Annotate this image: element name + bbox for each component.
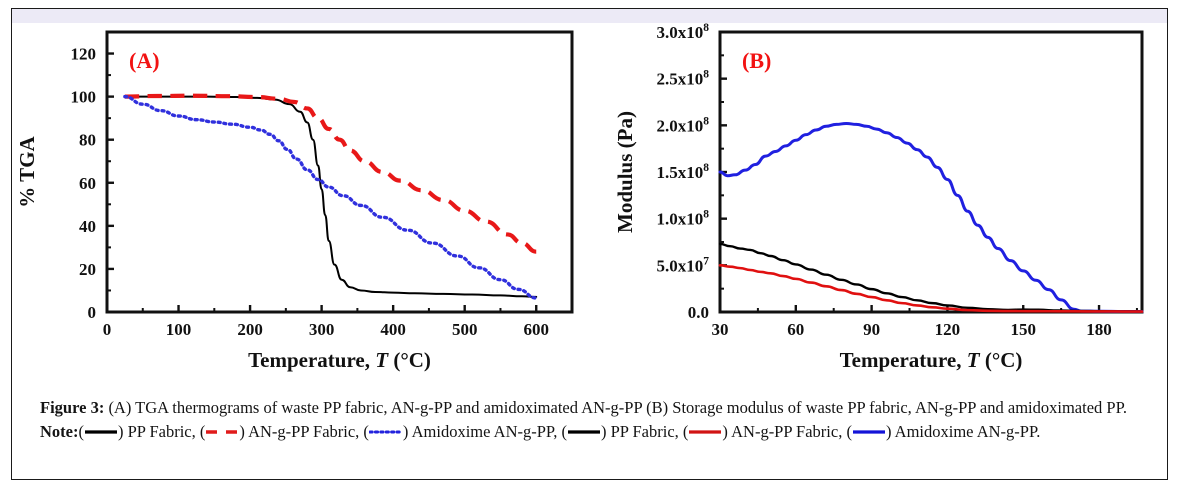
legend-entry-label: ) AN-g-PP Fabric, ( — [722, 422, 852, 441]
dashed-red-line — [205, 426, 239, 436]
caption-legend-list: ) PP Fabric, () AN-g-PP Fabric, () Amido… — [84, 422, 1040, 441]
y-tick-label: 0.0 — [688, 303, 709, 322]
y-tick-label: 2.0x108 — [657, 115, 710, 135]
caption-text: (A) TGA thermograms of waste PP fabric, … — [104, 398, 1127, 417]
x-tick-label: 90 — [863, 320, 880, 339]
x-tick-label: 100 — [166, 320, 192, 339]
chart-panel-b: 3060901201501800.05.0x1071.0x1081.5x1082… — [602, 12, 1167, 382]
y-tick-label: 3.0x108 — [657, 22, 710, 42]
panel-label: (B) — [742, 48, 771, 73]
x-axis-title: Temperature, T (°C) — [840, 348, 1023, 372]
solid-black-line — [84, 426, 118, 436]
legend-entry-label: ) PP Fabric, ( — [118, 422, 205, 441]
plots-area: 0100200300400500600020406080100120(A)Tem… — [12, 12, 1167, 382]
x-tick-label: 180 — [1086, 320, 1112, 339]
y-axis-title: % TGA — [15, 135, 39, 207]
x-tick-label: 600 — [523, 320, 549, 339]
x-tick-label: 0 — [103, 320, 112, 339]
x-tick-label: 200 — [237, 320, 263, 339]
x-axis-title: Temperature, T (°C) — [248, 348, 431, 372]
dotted-blue-line — [369, 426, 403, 436]
legend-entry-label: ) PP Fabric, ( — [601, 422, 688, 441]
x-tick-label: 60 — [787, 320, 804, 339]
legend-entry-label: ) Amidoxime AN-g-PP, ( — [403, 422, 567, 441]
x-tick-label: 500 — [452, 320, 478, 339]
x-tick-label: 150 — [1010, 320, 1036, 339]
plot-frame — [720, 32, 1142, 312]
x-tick-label: 400 — [380, 320, 406, 339]
solid-black-line-2 — [567, 426, 601, 436]
y-tick-label: 80 — [79, 131, 96, 150]
solid-blue-line — [852, 426, 886, 436]
solid-red-line — [688, 426, 722, 436]
panel-label: (A) — [129, 48, 160, 73]
y-tick-label: 100 — [71, 88, 97, 107]
legend-entry-label: ) Amidoxime AN-g-PP. — [886, 422, 1040, 441]
x-tick-label: 300 — [309, 320, 335, 339]
y-tick-label: 20 — [79, 260, 96, 279]
y-axis-title: Modulus (Pa) — [613, 111, 637, 233]
figure-caption: Figure 3: (A) TGA thermograms of waste P… — [40, 396, 1140, 444]
y-tick-label: 0 — [88, 303, 97, 322]
y-tick-label: 40 — [79, 217, 96, 236]
figure-container: 0100200300400500600020406080100120(A)Tem… — [0, 0, 1179, 488]
x-tick-label: 120 — [935, 320, 961, 339]
y-tick-label: 60 — [79, 174, 96, 193]
y-tick-label: 2.5x108 — [657, 69, 710, 89]
y-tick-label: 1.5x108 — [657, 162, 710, 182]
legend-entry-label: ) AN-g-PP Fabric, ( — [239, 422, 369, 441]
y-tick-label: 5.0x107 — [657, 255, 710, 275]
figure-number: Figure 3: — [40, 398, 104, 417]
y-tick-label: 120 — [71, 45, 97, 64]
plot-frame — [107, 32, 572, 312]
note-label: Note: — [40, 422, 78, 441]
chart-panel-a: 0100200300400500600020406080100120(A)Tem… — [12, 12, 602, 382]
x-tick-label: 30 — [712, 320, 729, 339]
y-tick-label: 1.0x108 — [657, 209, 710, 229]
